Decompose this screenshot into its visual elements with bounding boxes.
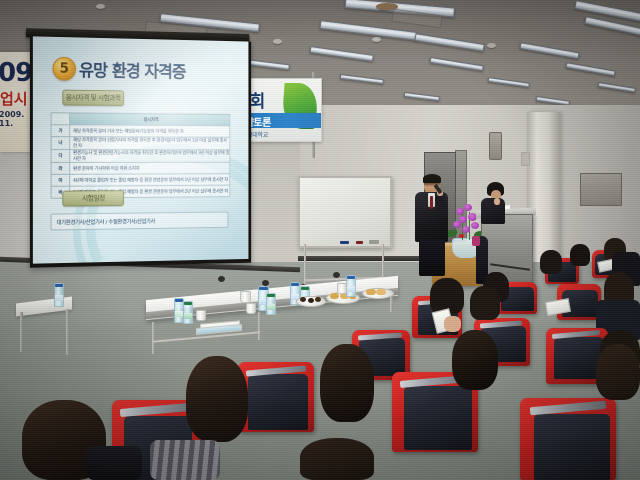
orchid-bloom — [464, 204, 472, 211]
whiteboard-caster — [333, 272, 340, 278]
audience-shoulder — [150, 440, 220, 480]
podium-person-hand — [494, 198, 500, 205]
mobile-whiteboard — [298, 176, 392, 248]
wall-switch[interactable] — [521, 152, 530, 166]
wall-speaker — [489, 132, 502, 160]
bottle-cap — [55, 284, 63, 287]
seat-panel — [534, 414, 610, 480]
podium-person-bag — [472, 236, 480, 246]
orchid-bloom — [456, 208, 464, 215]
water-bottle — [54, 283, 64, 307]
water-bottle — [346, 275, 356, 297]
audience-hand — [444, 316, 461, 332]
snack-item — [308, 298, 314, 303]
ceiling-smoke-detector — [273, 39, 282, 44]
snack-item — [315, 297, 321, 302]
table-leg — [66, 309, 69, 355]
audience-head — [570, 244, 590, 266]
audience-head — [596, 344, 640, 400]
wall-notice-board — [580, 173, 622, 206]
presenter-tie — [430, 196, 433, 209]
paper-cup — [196, 310, 206, 321]
table-leg — [258, 312, 261, 340]
bottle-label — [55, 295, 63, 301]
snack-item — [376, 289, 386, 295]
audience-head — [470, 286, 500, 320]
bottle-cap — [291, 283, 299, 286]
bottle-cap — [184, 302, 192, 305]
paper-cup — [337, 283, 347, 294]
whiteboard-eraser — [369, 240, 379, 244]
bottle-cap — [347, 276, 355, 279]
podium-person-body — [481, 198, 505, 224]
snack-item — [366, 289, 376, 295]
projector-glow — [33, 36, 249, 263]
projection-screen: 5 유망 환경 자격증 응시자격 및 시험과목 응시자격 가 해당 자격종목 분… — [18, 28, 246, 282]
whiteboard-caster — [218, 276, 225, 282]
bottle-cap — [267, 294, 275, 297]
audience-head — [452, 330, 498, 390]
bottle-cap — [175, 299, 183, 302]
bottle-label — [175, 311, 183, 317]
audience-head — [186, 356, 248, 442]
seat-panel — [404, 386, 472, 450]
presenter-hair — [423, 174, 441, 183]
ceiling-smoke-detector — [487, 43, 496, 48]
ceiling-smoke-detector — [96, 4, 105, 9]
paper-cup — [240, 291, 251, 303]
paper-cup — [246, 303, 256, 314]
snack-item — [300, 297, 306, 302]
bottle-label — [347, 286, 355, 292]
bottle-label — [267, 304, 275, 310]
table-leg — [20, 312, 23, 352]
seat-panel — [248, 374, 308, 430]
audience-head — [300, 438, 374, 480]
whiteboard-marker — [340, 241, 349, 244]
water-bottle — [183, 301, 193, 324]
water-bottle — [266, 293, 276, 315]
audience-head — [320, 344, 374, 422]
lecture-hall-photo: 09 업시 2009. 11. 수회 전략토론 국 환경대학교 5 유망 환경 … — [0, 0, 640, 480]
orchid-bloom — [453, 221, 461, 228]
audience-head — [540, 250, 562, 274]
flower-accent — [459, 234, 464, 238]
bottle-label — [184, 313, 192, 319]
orchid-bloom — [471, 222, 479, 229]
snack-item — [330, 293, 339, 299]
presenter-legs — [419, 240, 445, 276]
ceiling-smoke-detector — [372, 37, 381, 42]
orchid-bloom — [462, 226, 470, 233]
audience-shoulder — [86, 446, 142, 480]
table-leg — [152, 322, 155, 354]
bottle-cap — [301, 287, 309, 290]
whiteboard-marker — [356, 241, 363, 244]
bottle-cap — [259, 287, 268, 290]
screen-surface: 5 유망 환경 자격증 응시자격 및 시험과목 응시자격 가 해당 자격종목 분… — [30, 36, 251, 267]
